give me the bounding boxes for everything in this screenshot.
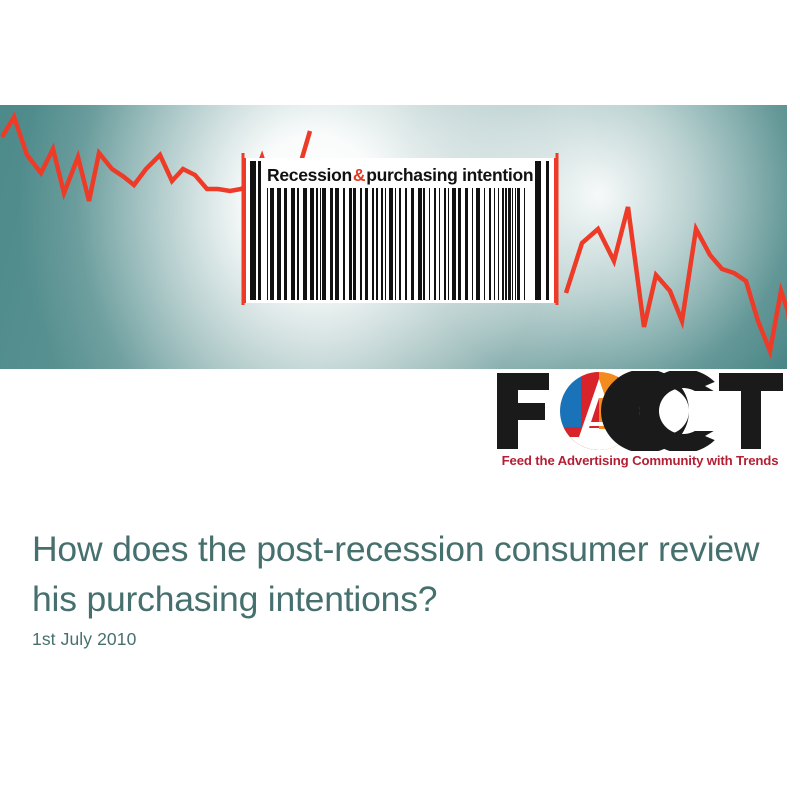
barcode-bar	[498, 188, 499, 300]
barcode-caption: Recession & purchasing intention	[267, 162, 535, 188]
barcode-bar	[389, 188, 393, 300]
barcode-bar	[310, 188, 314, 300]
barcode-bar	[515, 188, 516, 300]
fact-tagline: Feed the Advertising Community with Tren…	[495, 453, 785, 468]
barcode-bar	[267, 188, 268, 300]
barcode-bar	[343, 188, 345, 300]
barcode-bar	[512, 188, 513, 300]
barcode-bar	[376, 188, 378, 300]
barcode-bar	[372, 188, 374, 300]
barcode-bar	[472, 188, 473, 300]
barcode-bar	[502, 188, 504, 300]
barcode-bar	[458, 188, 461, 300]
barcode-guard-bar	[250, 161, 256, 300]
barcode-bar	[476, 188, 480, 300]
barcode-bar	[303, 188, 307, 300]
barcode-bar	[291, 188, 295, 300]
presentation-slide: Recession & purchasing intention	[0, 0, 800, 800]
barcode-bar	[505, 188, 507, 300]
barcode-bar	[381, 188, 383, 300]
barcode-bar	[489, 188, 491, 300]
barcode-bar	[335, 188, 339, 300]
barcode-bar	[284, 188, 287, 300]
barcode-bar	[484, 188, 485, 300]
barcode-guard-bar	[258, 161, 261, 300]
barcode-bar	[353, 188, 356, 300]
barcode-bars	[267, 188, 531, 300]
barcode-graphic: Recession & purchasing intention	[245, 158, 555, 303]
barcode-bar	[349, 188, 352, 300]
barcode-bar	[448, 188, 449, 300]
page-title: How does the post-recession consumer rev…	[32, 524, 762, 625]
barcode-bar	[395, 188, 396, 300]
fact-wordmark	[493, 371, 785, 451]
barcode-rail-right-icon	[554, 158, 558, 303]
barcode-bar	[439, 188, 440, 300]
barcode-bar	[508, 188, 511, 300]
barcode-bar	[524, 188, 525, 300]
barcode-bar	[452, 188, 456, 300]
barcode-bar	[297, 188, 299, 300]
fact-logo: Feed the Advertising Community with Tren…	[493, 371, 785, 477]
barcode-caption-ampersand: &	[352, 165, 366, 186]
barcode-bar	[423, 188, 425, 300]
barcode-bar	[385, 188, 386, 300]
barcode-bar	[316, 188, 318, 300]
barcode-caption-part-1: Recession	[267, 165, 352, 186]
barcode-bar	[399, 188, 401, 300]
barcode-bar	[360, 188, 362, 300]
barcode-caption-part-2: purchasing intention	[366, 165, 533, 186]
barcode-bar	[277, 188, 281, 300]
barcode-bar	[444, 188, 446, 300]
barcode-bar	[405, 188, 407, 300]
barcode-bar	[270, 188, 274, 300]
barcode-guard-bar	[546, 161, 549, 300]
logo-letter-f	[497, 373, 549, 449]
slide-date: 1st July 2010	[32, 629, 136, 650]
barcode-bar	[411, 188, 414, 300]
barcode-bar	[365, 188, 368, 300]
barcode-guard-bar	[535, 161, 541, 300]
logo-letter-c	[601, 371, 731, 451]
title-block: How does the post-recession consumer rev…	[32, 524, 762, 625]
barcode-bar	[320, 188, 321, 300]
barcode-bar	[434, 188, 436, 300]
barcode-bar	[322, 188, 326, 300]
barcode-bar	[465, 188, 468, 300]
barcode-bar	[494, 188, 495, 300]
barcode-rail-left-icon	[242, 158, 246, 303]
barcode-bar	[517, 188, 520, 300]
barcode-bar	[330, 188, 333, 300]
barcode-bar	[418, 188, 422, 300]
barcode-bar	[429, 188, 430, 300]
